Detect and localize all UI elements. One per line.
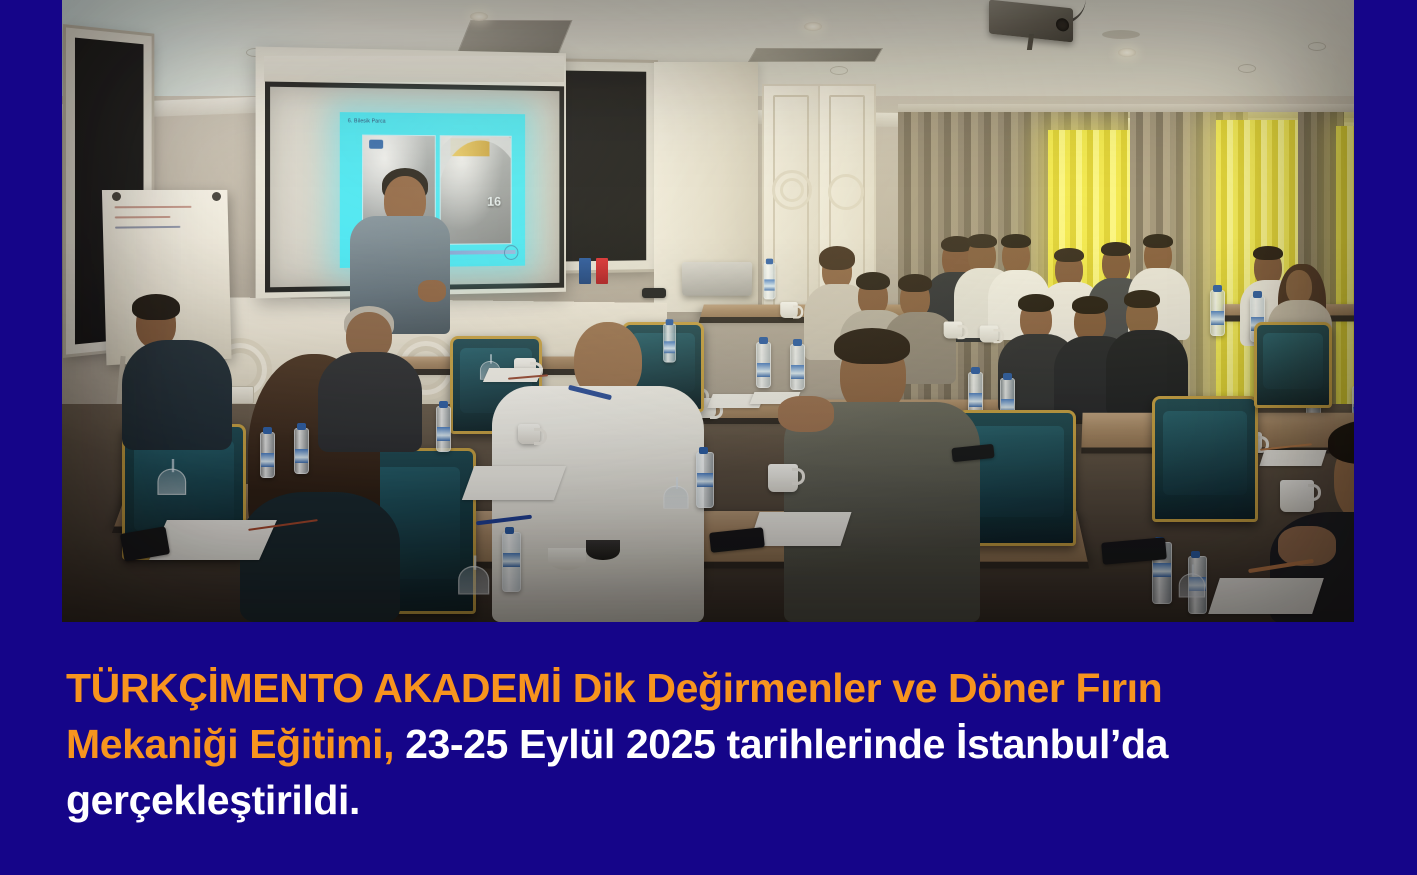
- downlight-icon: [470, 12, 488, 21]
- chair: [1152, 396, 1258, 522]
- spiral-motif-icon: [780, 178, 804, 202]
- flipchart-writing: [115, 216, 171, 219]
- table-flag: [579, 258, 591, 284]
- water-bottle: [502, 532, 521, 592]
- mug: [518, 424, 540, 444]
- water-bottle: [294, 428, 309, 474]
- flipchart-writing: [115, 206, 192, 208]
- caption-subject-highlight: Mekaniği Eğitimi,: [66, 721, 394, 767]
- mug: [768, 464, 798, 492]
- projector-lens-icon: [1056, 18, 1069, 32]
- event-photo: 6. Bilesik Parca 16: [62, 0, 1354, 622]
- notepad: [149, 520, 277, 560]
- ceiling-vent-icon: [748, 48, 883, 62]
- slide-title: 6. Bilesik Parca: [348, 118, 386, 124]
- caption-title-highlight: TÜRKÇİMENTO AKADEMİ Dik Değirmenler ve D…: [66, 665, 1162, 711]
- snack-bowl: [586, 540, 620, 560]
- water-bottle: [756, 342, 771, 388]
- downlight-icon: [830, 66, 848, 75]
- ceiling-vent-icon: [1102, 30, 1140, 39]
- caption-date-location: 23-25 Eylül 2025 tarihlerinde İstanbul’d…: [394, 721, 1168, 767]
- slide-page-number: 16: [487, 194, 501, 209]
- wall-socket-icon: [230, 386, 254, 404]
- notepad: [462, 466, 566, 500]
- mug: [1280, 480, 1314, 512]
- wine-glass: [160, 459, 186, 495]
- mug: [944, 322, 963, 339]
- wine-glass: [665, 477, 688, 509]
- caption-verb: gerçekleştirildi.: [66, 777, 360, 823]
- water-bottle: [696, 452, 714, 508]
- notepad: [1208, 578, 1324, 614]
- slide-badge-icon: [369, 140, 383, 149]
- downlight-icon: [1308, 42, 1326, 51]
- screen-valance: [264, 56, 564, 82]
- chair: [1254, 322, 1332, 408]
- wine-glass: [1181, 565, 1205, 598]
- phone: [642, 288, 666, 298]
- laptop: [682, 262, 753, 296]
- wine-glass: [461, 556, 490, 595]
- spiral-motif-icon: [828, 174, 864, 210]
- slide-arc-shape: [440, 135, 512, 245]
- downlight-icon: [1238, 64, 1256, 73]
- water-bottle: [663, 323, 676, 362]
- caption: TÜRKÇİMENTO AKADEMİ Dik Değirmenler ve D…: [66, 660, 1336, 828]
- downlight-icon: [804, 22, 822, 31]
- slide-image-right: 16: [440, 135, 512, 245]
- mug: [780, 302, 798, 318]
- water-bottle: [1210, 290, 1225, 336]
- water-bottle: [436, 406, 451, 452]
- water-bottle: [260, 432, 275, 478]
- water-bottle: [764, 263, 776, 300]
- photo-scene: 6. Bilesik Parca 16: [62, 0, 1354, 622]
- flipchart-writing: [115, 226, 180, 229]
- slide-logo-icon: [504, 245, 518, 260]
- poster-root: 6. Bilesik Parca 16: [0, 0, 1417, 875]
- water-bottle: [790, 344, 805, 390]
- flipchart-clamp-icon: [112, 192, 121, 201]
- snack-bowl: [548, 548, 586, 570]
- notepad: [1259, 450, 1326, 466]
- downlight-icon: [1118, 48, 1136, 57]
- mug: [980, 326, 999, 343]
- turkish-flag-icon: [596, 258, 608, 284]
- flipchart-clamp-icon: [212, 192, 221, 201]
